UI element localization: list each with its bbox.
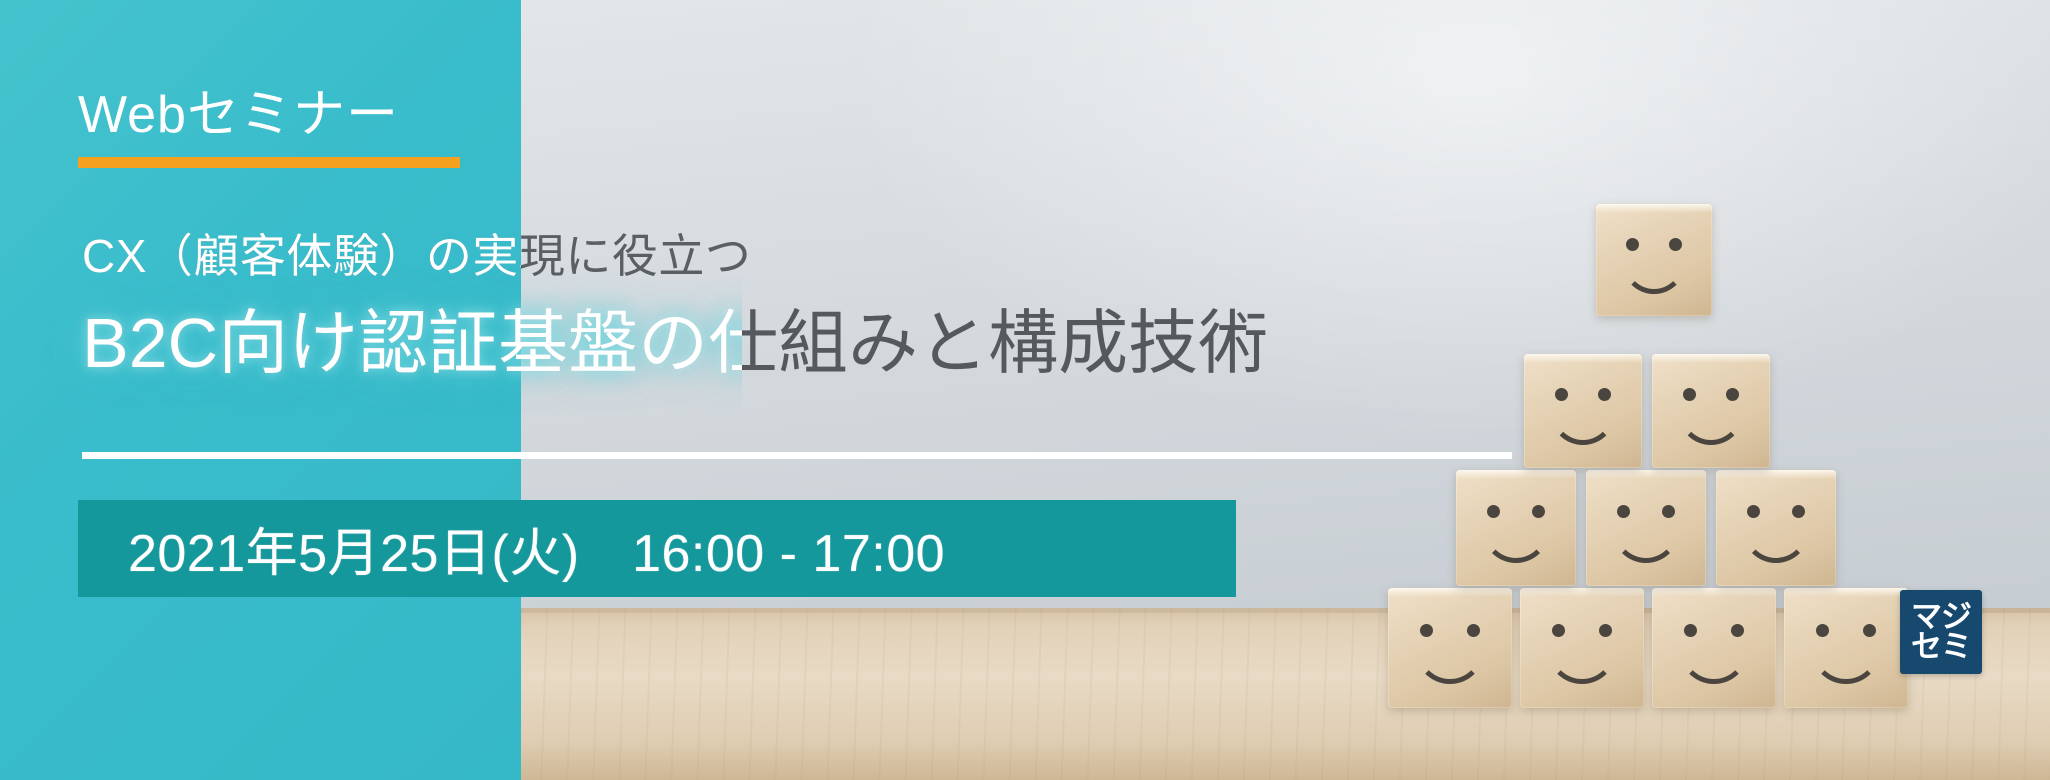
page-title: B2C向け認証基盤の仕組みと構成技術 B2C向け認証基盤の仕組みと構成技術 xyxy=(82,300,1268,388)
date-time-bar: 2021年5月25日(火) 16:00 - 17:00 xyxy=(78,500,1236,597)
kicker-underline xyxy=(78,157,460,168)
kicker-label: Webセミナー xyxy=(78,88,460,143)
divider xyxy=(82,452,1512,459)
logo-line-1: マジ xyxy=(1911,602,1971,632)
subtitle: CX（顧客体験）の実現に役立つ CX（顧客体験）の実現に役立つ xyxy=(82,228,751,286)
kicker-block: Webセミナー xyxy=(78,88,460,168)
logo-line-2: セミ xyxy=(1911,632,1971,662)
date-time-label: 2021年5月25日(火) 16:00 - 17:00 xyxy=(78,511,945,586)
majisemi-logo[interactable]: マジ セミ xyxy=(1900,590,1982,674)
webinar-banner: Webセミナー CX（顧客体験）の実現に役立つ CX（顧客体験）の実現に役立つ … xyxy=(0,0,2050,780)
banner-content: Webセミナー CX（顧客体験）の実現に役立つ CX（顧客体験）の実現に役立つ … xyxy=(0,0,2050,780)
